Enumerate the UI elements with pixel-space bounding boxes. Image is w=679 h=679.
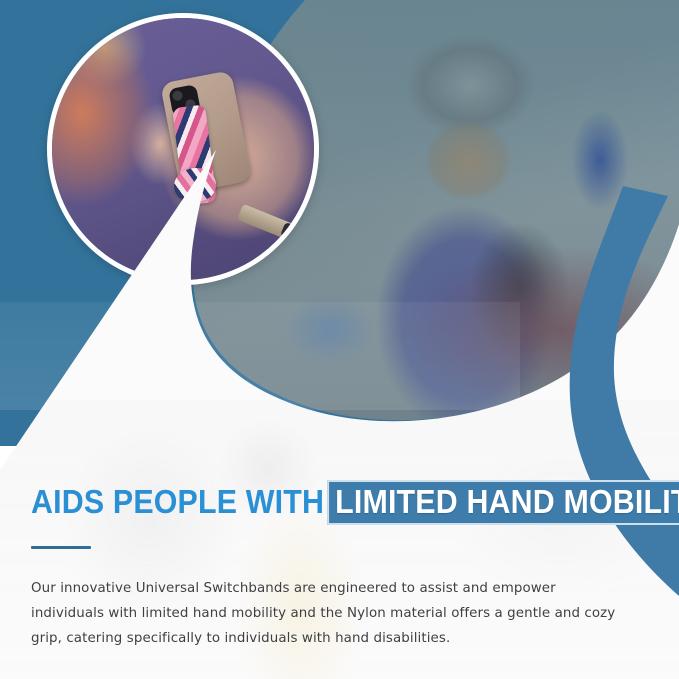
wristwatch	[237, 204, 297, 241]
body-paragraph: Our innovative Universal Switchbands are…	[31, 576, 631, 651]
page-title: AIDS PEOPLE WITHLIMITED HAND MOBILITY	[31, 480, 592, 524]
headline-highlighted-text: LIMITED HAND MOBILITY	[327, 480, 679, 525]
infographic-root: AIDS PEOPLE WITHLIMITED HAND MOBILITY Ou…	[0, 0, 679, 679]
headline-plain-text: AIDS PEOPLE WITH	[31, 483, 324, 520]
text-content-area: AIDS PEOPLE WITHLIMITED HAND MOBILITY Ou…	[31, 480, 641, 651]
title-divider-rule	[31, 546, 91, 549]
